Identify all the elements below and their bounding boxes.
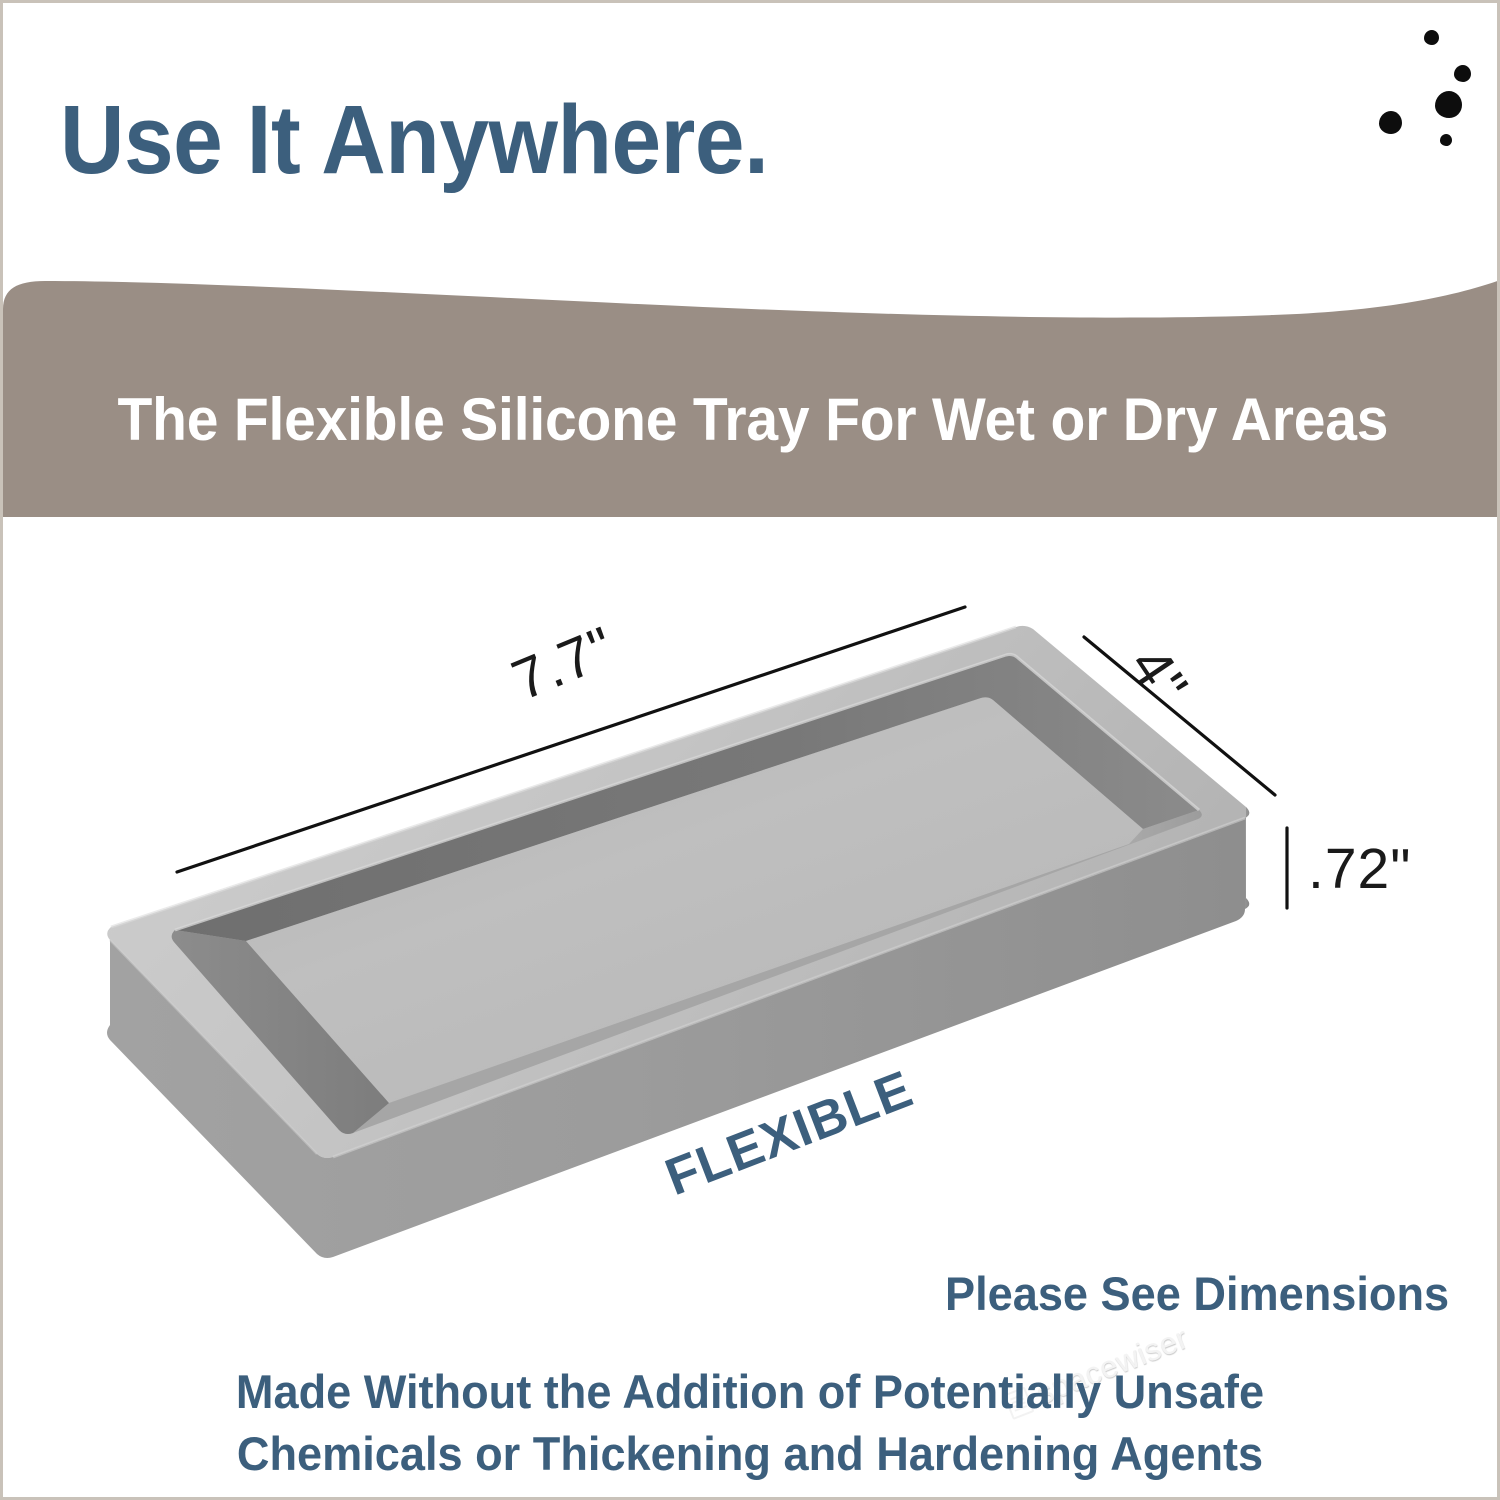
tray-right-side xyxy=(1245,807,1249,909)
banner-subtitle: The Flexible Silicone Tray For Wet or Dr… xyxy=(118,385,1389,454)
disclaimer-line-2: Chemicals or Thickening and Hardening Ag… xyxy=(33,1423,1467,1485)
disclaimer-text: Made Without the Addition of Potentially… xyxy=(3,1361,1497,1485)
droplet-1-icon xyxy=(1379,111,1402,134)
droplet-4-icon xyxy=(1435,91,1462,118)
see-dimensions-note: Please See Dimensions xyxy=(945,1266,1449,1321)
droplet-cluster xyxy=(1333,23,1500,193)
banner-text-wrap: The Flexible Silicone Tray For Wet or Dr… xyxy=(3,265,1500,517)
disclaimer-line-1: Made Without the Addition of Potentially… xyxy=(33,1361,1467,1423)
droplet-5-icon xyxy=(1440,134,1452,146)
page-title: Use It Anywhere. xyxy=(60,91,768,188)
product-infographic: Use It Anywhere. The Flexible Silicone T… xyxy=(0,0,1500,1500)
dimension-label-height: .72" xyxy=(1308,836,1411,902)
droplet-3-icon xyxy=(1454,65,1471,82)
droplet-2-icon xyxy=(1424,30,1439,45)
subtitle-banner: The Flexible Silicone Tray For Wet or Dr… xyxy=(3,265,1500,517)
